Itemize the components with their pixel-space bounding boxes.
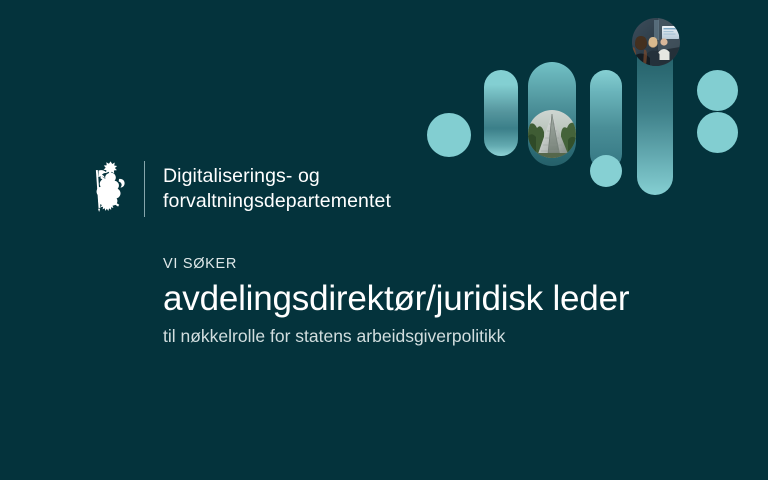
photo-meeting-image xyxy=(632,18,680,66)
logo-divider xyxy=(144,161,145,217)
decor-circle-6 xyxy=(697,70,738,111)
job-advert-poster: Digitaliserings- og forvaltningsdepartem… xyxy=(0,0,768,480)
decor-circle-1 xyxy=(427,113,471,157)
page-title: avdelingsdirektør/juridisk leder xyxy=(163,278,723,320)
norwegian-coat-of-arms-lion-icon xyxy=(86,158,132,220)
page-subtitle: til nøkkelrolle for statens arbeidsgiver… xyxy=(163,324,723,348)
decor-dot-4 xyxy=(590,155,622,187)
eyebrow-label: VI SØKER xyxy=(163,256,723,272)
department-logo: Digitaliserings- og forvaltningsdepartem… xyxy=(86,158,391,220)
headline-block: VI SØKER avdelingsdirektør/juridisk lede… xyxy=(163,256,723,348)
department-name: Digitaliserings- og forvaltningsdepartem… xyxy=(163,164,391,214)
pill-bar-graphic xyxy=(420,0,768,215)
photo-building-image xyxy=(528,110,576,158)
decor-pill-2 xyxy=(484,70,518,156)
decor-circle-7 xyxy=(697,112,738,153)
